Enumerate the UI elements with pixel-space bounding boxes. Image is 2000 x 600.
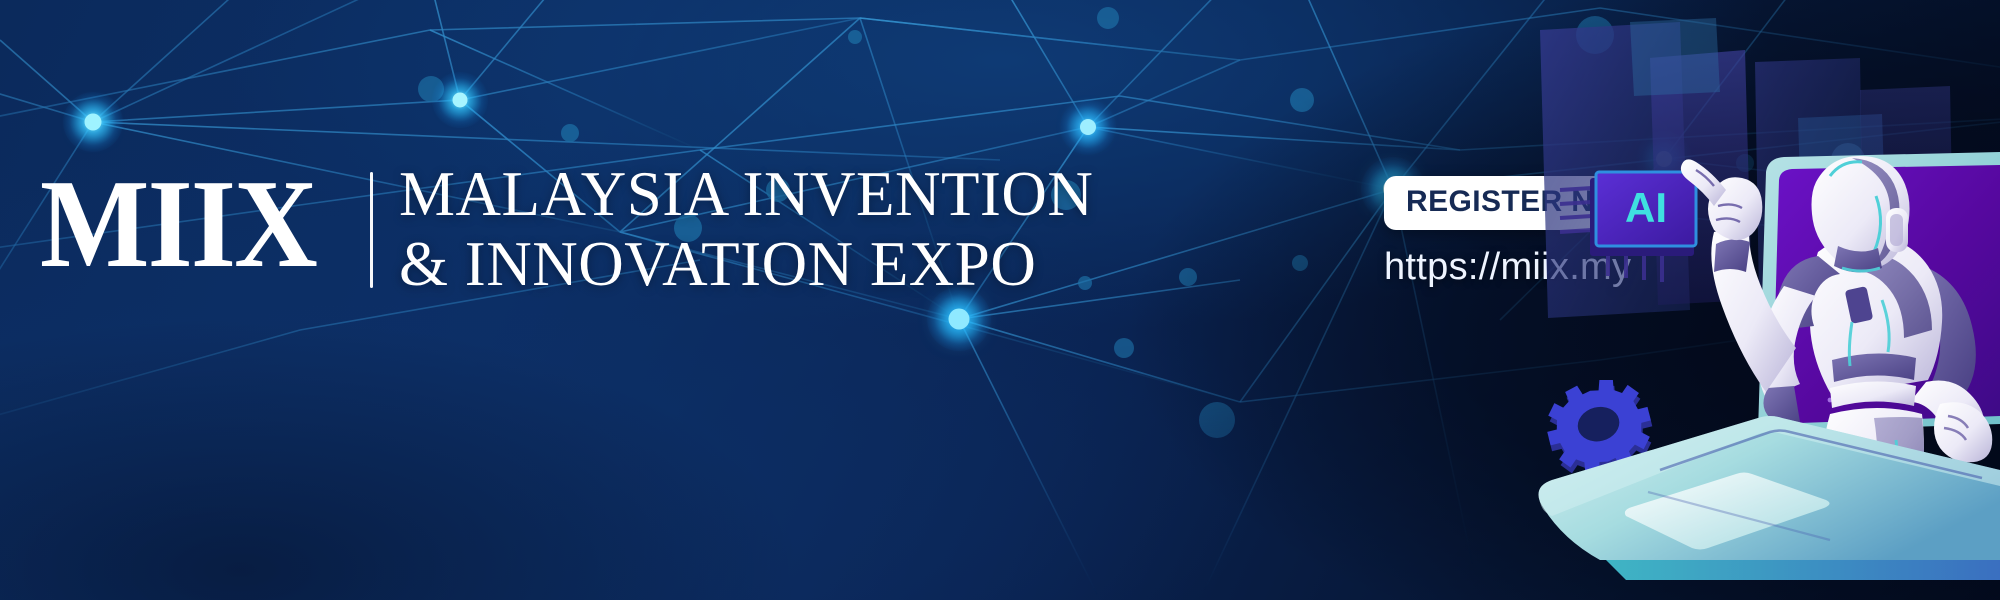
ai-chip-icon: AI [1590, 172, 1696, 256]
miix-expo-banner: MIIX MALAYSIA INVENTION & INNOVATION EXP… [0, 0, 2000, 600]
brand-lockup: MIIX MALAYSIA INVENTION & INNOVATION EXP… [40, 162, 1093, 296]
expo-title: MALAYSIA INVENTION & INNOVATION EXPO [399, 162, 1093, 296]
title-line-1: MALAYSIA INVENTION [399, 162, 1093, 226]
ai-chip-label: AI [1625, 184, 1667, 231]
title-line-2: & INNOVATION EXPO [399, 232, 1093, 296]
ai-robot-laptop-illustration: AI [1530, 0, 2000, 600]
brand-divider [370, 172, 373, 288]
miix-logo: MIIX [40, 162, 316, 296]
